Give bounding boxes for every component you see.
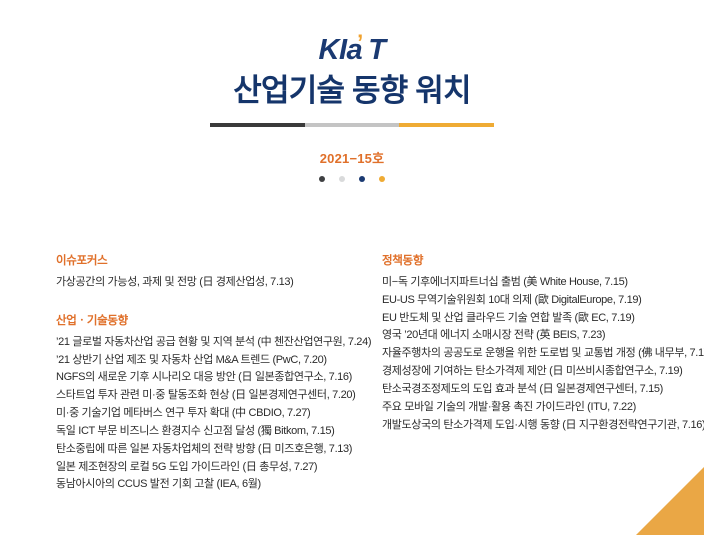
divider-segment-orange bbox=[399, 123, 494, 127]
content-section: 이슈포커스가상공간의 가능성, 과제 및 전망 (日 경제산업성, 7.13) bbox=[56, 252, 376, 292]
masthead: KIa’T 산업기술 동향 워치 2021−15호 bbox=[0, 0, 704, 182]
list-item[interactable]: 탄소중립에 따른 일본 자동차업체의 전략 방향 (日 미즈호은행, 7.13) bbox=[56, 441, 376, 459]
page-title: 산업기술 동향 워치 bbox=[0, 74, 704, 109]
section-heading: 정책동향 bbox=[382, 252, 704, 268]
list-item[interactable]: NGFS의 새로운 기후 시나리오 대응 방안 (日 일본종합연구소, 7.16… bbox=[56, 369, 376, 387]
left-column: 이슈포커스가상공간의 가능성, 과제 및 전망 (日 경제산업성, 7.13)산… bbox=[56, 252, 376, 494]
kiat-logo-tail: T bbox=[368, 34, 385, 66]
list-item[interactable]: 자율주행차의 공공도로 운행을 위한 도로법 및 교통법 개정 (佛 내무부, … bbox=[382, 345, 704, 363]
divider-segment-light bbox=[305, 123, 400, 127]
page-title-part2: 동향 워치 bbox=[344, 73, 471, 108]
dot-light[interactable] bbox=[339, 176, 345, 182]
dot-orange[interactable] bbox=[379, 176, 385, 182]
list-item[interactable]: 탄소국경조정제도의 도입 효과 분석 (日 일본경제연구센터, 7.15) bbox=[382, 381, 704, 399]
list-item[interactable]: 일본 제조현장의 로컬 5G 도입 가이드라인 (日 총무성, 7.27) bbox=[56, 459, 376, 477]
list-item[interactable]: 영국 ’20년대 에너지 소매시장 전략 (英 BEIS, 7.23) bbox=[382, 327, 704, 345]
section-heading: 이슈포커스 bbox=[56, 252, 376, 268]
content-section: 산업ㆍ기술동향’21 글로벌 자동차산업 공급 현황 및 지역 분석 (中 첸잔… bbox=[56, 312, 376, 494]
dot-navy[interactable] bbox=[359, 176, 365, 182]
title-divider bbox=[210, 123, 494, 127]
list-item[interactable]: 스타트업 투자 관련 미·중 탈동조화 현상 (日 일본경제연구센터, 7.20… bbox=[56, 387, 376, 405]
list-item[interactable]: 동남아시아의 CCUS 발전 기회 고찰 (IEA, 6월) bbox=[56, 476, 376, 494]
list-item[interactable]: ’21 상반기 산업 제조 및 자동차 산업 M&A 트렌드 (PwC, 7.2… bbox=[56, 352, 376, 370]
list-item[interactable]: 개발도상국의 탄소가격제 도입·시행 동향 (日 지구환경전략연구기관, 7.1… bbox=[382, 417, 704, 435]
kiat-logo-main: KIa bbox=[319, 34, 363, 66]
list-item[interactable]: 주요 모바일 기술의 개발·활용 촉진 가이드라인 (ITU, 7.22) bbox=[382, 399, 704, 417]
list-item[interactable]: EU 반도체 및 산업 클라우드 기술 연합 발족 (歐 EC, 7.19) bbox=[382, 310, 704, 328]
dot-indicator-row bbox=[0, 176, 704, 182]
divider-segment-dark bbox=[210, 123, 305, 127]
list-item[interactable]: ’21 글로벌 자동차산업 공급 현황 및 지역 분석 (中 첸잔산업연구원, … bbox=[56, 334, 376, 352]
list-item[interactable]: EU-US 무역기술위원회 10대 의제 (歐 DigitalEurope, 7… bbox=[382, 292, 704, 310]
section-heading: 산업ㆍ기술동향 bbox=[56, 312, 376, 328]
dot-dark[interactable] bbox=[319, 176, 325, 182]
content-columns: 이슈포커스가상공간의 가능성, 과제 및 전망 (日 경제산업성, 7.13)산… bbox=[0, 252, 704, 494]
list-item[interactable]: 가상공간의 가능성, 과제 및 전망 (日 경제산업성, 7.13) bbox=[56, 274, 376, 292]
page-title-part1: 산업기술 bbox=[233, 73, 344, 108]
list-item[interactable]: 미−독 기후에너지파트너십 출범 (美 White House, 7.15) bbox=[382, 274, 704, 292]
corner-triangle-decoration bbox=[636, 467, 704, 535]
right-column: 정책동향미−독 기후에너지파트너십 출범 (美 White House, 7.1… bbox=[376, 252, 704, 494]
content-section: 정책동향미−독 기후에너지파트너십 출범 (美 White House, 7.1… bbox=[382, 252, 704, 434]
issue-number: 2021−15호 bbox=[0, 148, 704, 167]
list-item[interactable]: 경제성장에 기여하는 탄소가격제 제안 (日 미쓰비시종합연구소, 7.19) bbox=[382, 363, 704, 381]
list-item[interactable]: 미·중 기술기업 메타버스 연구 투자 확대 (中 CBDIO, 7.27) bbox=[56, 405, 376, 423]
kiat-logo: KIa’T bbox=[319, 36, 386, 65]
kiat-logo-accent-icon: ’ bbox=[357, 30, 363, 55]
list-item[interactable]: 독일 ICT 부문 비즈니스 환경지수 신고점 달성 (獨 Bitkom, 7.… bbox=[56, 423, 376, 441]
